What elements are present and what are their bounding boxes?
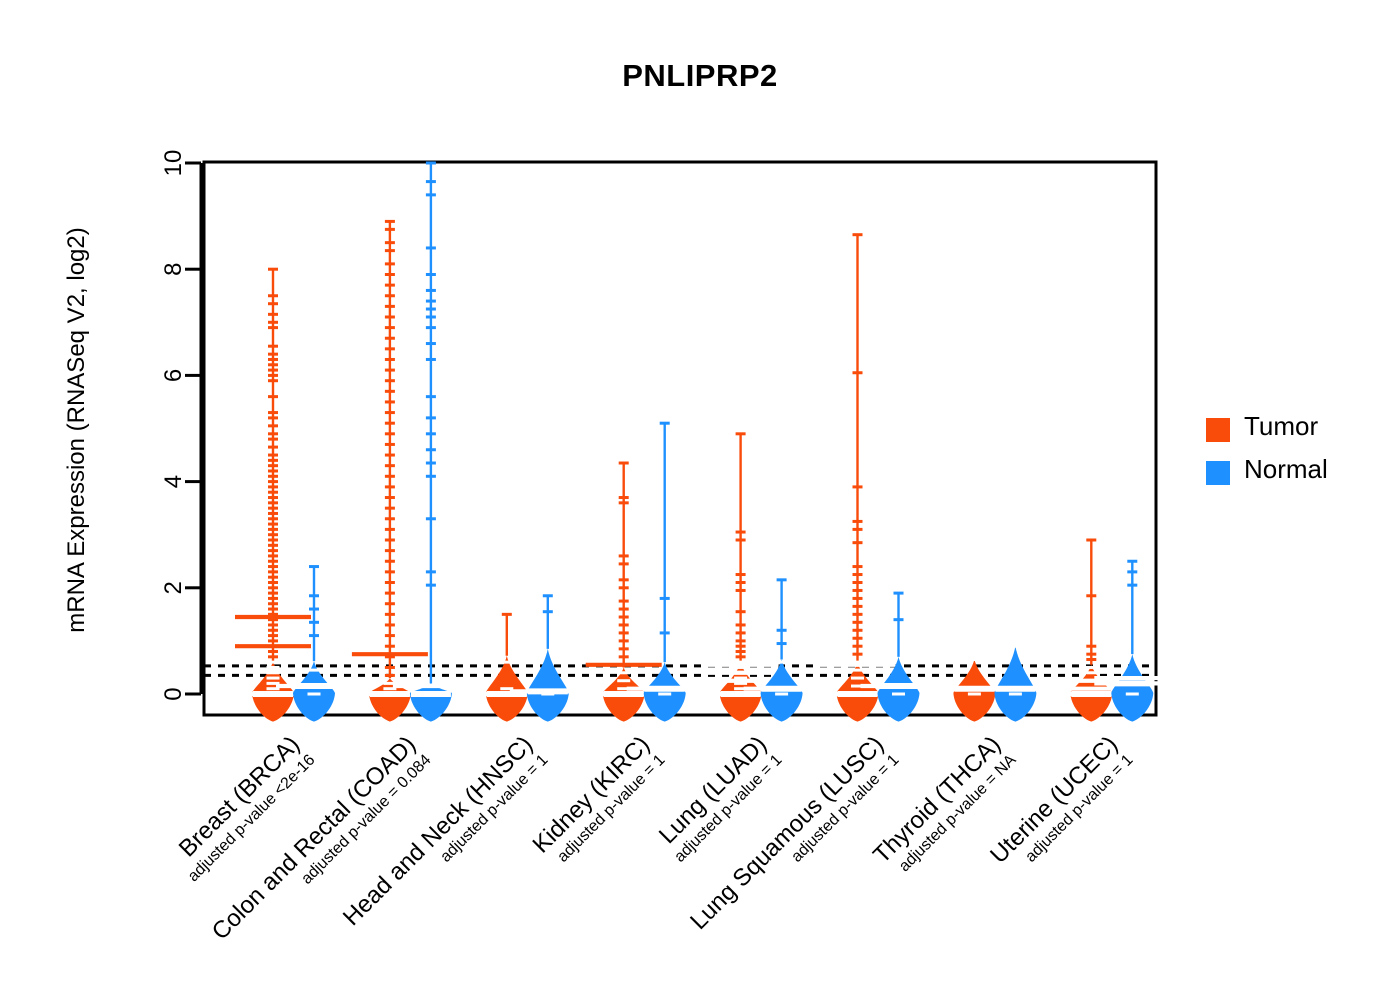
legend-label-normal: Normal — [1244, 454, 1328, 485]
y-tick-label: 0 — [160, 664, 188, 724]
y-tick-label: 8 — [160, 239, 188, 299]
legend-swatch-tumor — [1206, 418, 1230, 442]
legend-swatch-normal — [1206, 461, 1230, 485]
y-tick-label: 10 — [160, 133, 188, 193]
chart-root: PNLIPRP2 mRNA Expression (RNASeq V2, log… — [0, 0, 1400, 1000]
legend-label-tumor: Tumor — [1244, 411, 1318, 442]
y-tick-label: 6 — [160, 345, 188, 405]
y-tick-label: 2 — [160, 558, 188, 618]
tumor-bean — [235, 269, 311, 721]
bean-group — [235, 269, 352, 721]
y-tick-label: 4 — [160, 452, 188, 512]
